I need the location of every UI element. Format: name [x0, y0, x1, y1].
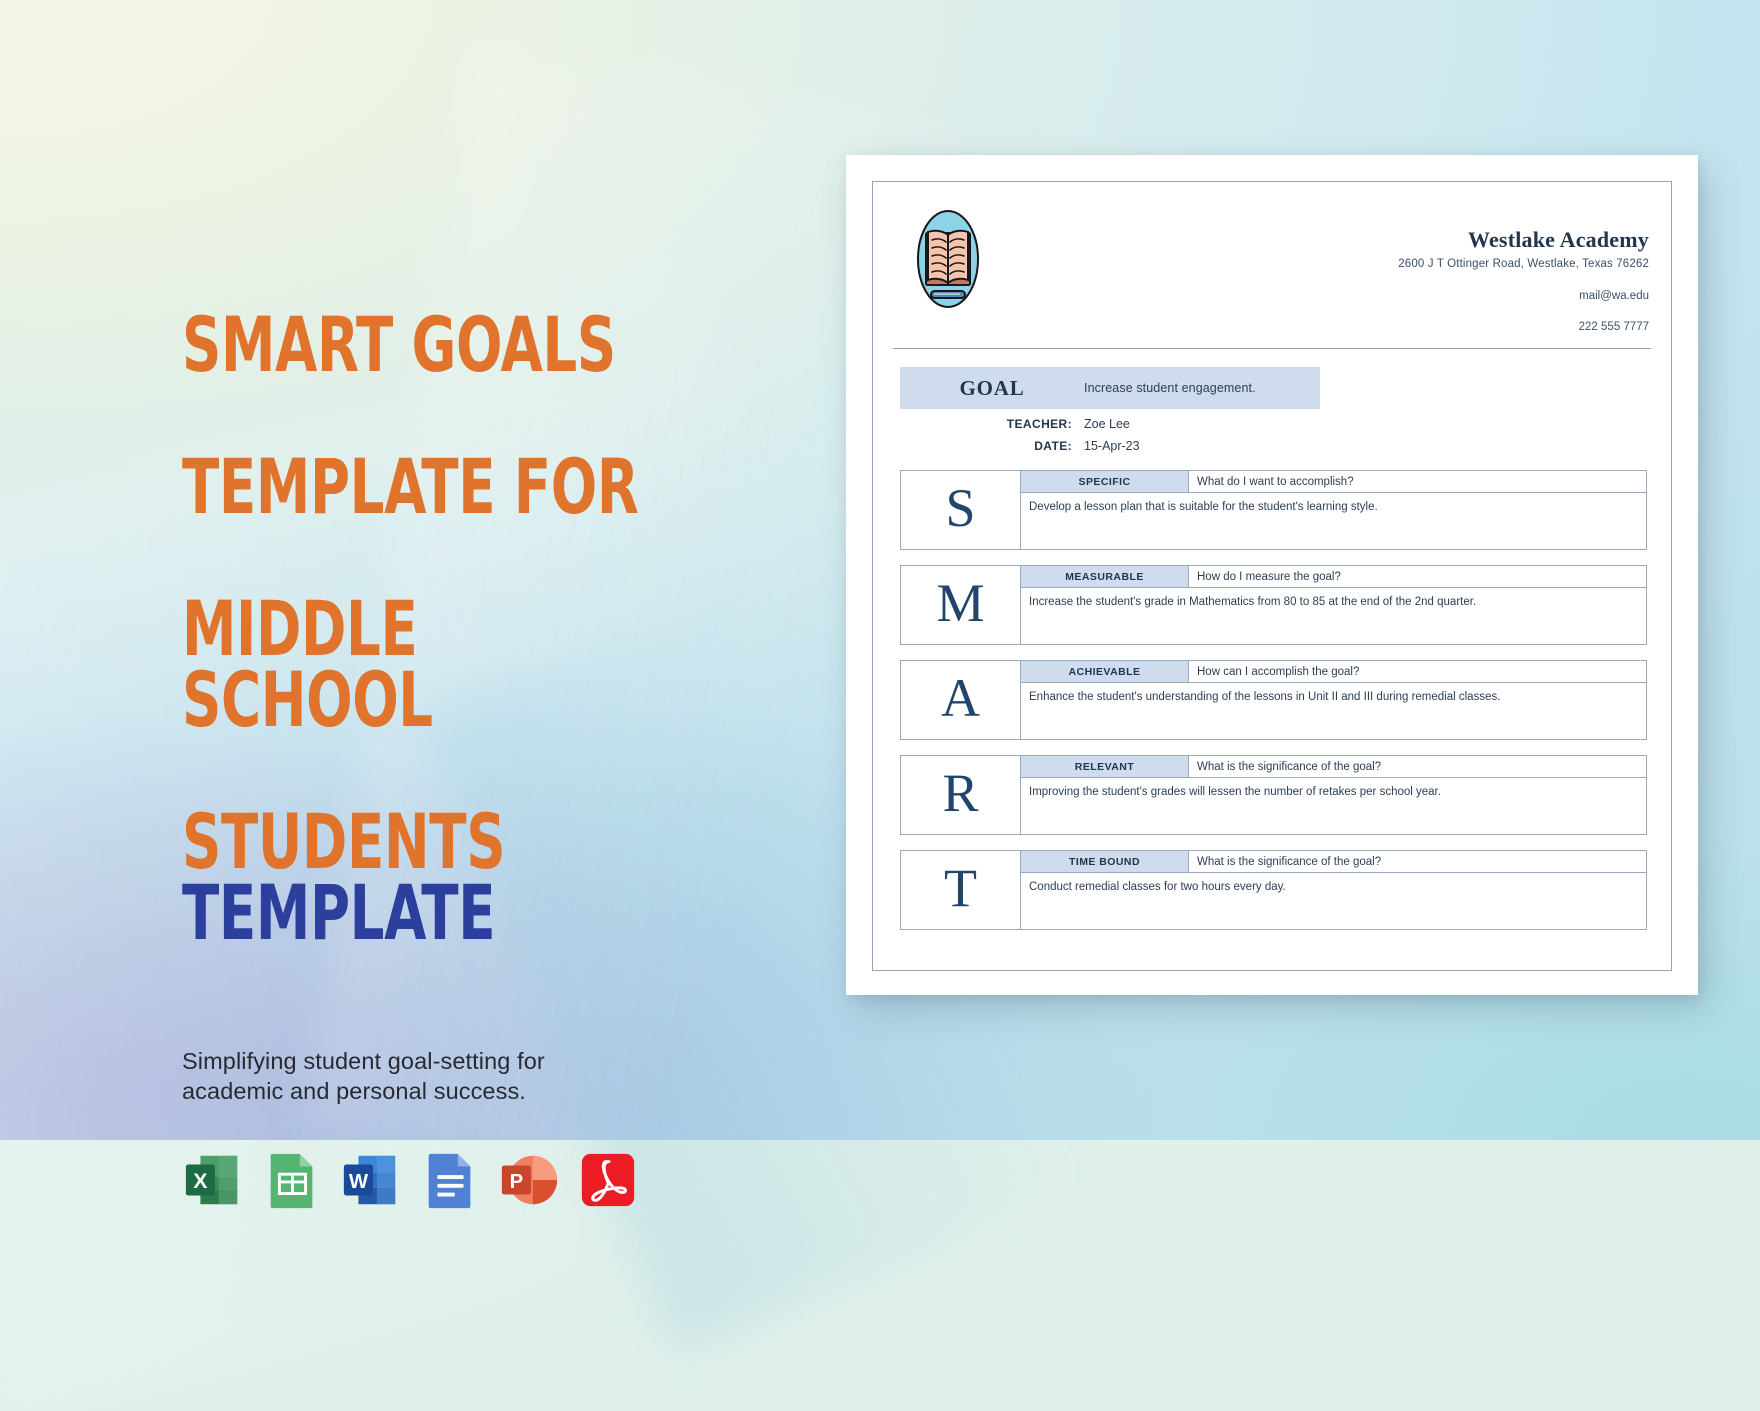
document-preview-card[interactable]: Westlake Academy 2600 J T Ottinger Road,… [846, 155, 1698, 995]
svg-text:P: P [510, 1170, 524, 1192]
document-letterhead: Westlake Academy 2600 J T Ottinger Road,… [893, 199, 1651, 349]
smart-head: SPECIFIC What do I want to accomplish? [1021, 471, 1646, 493]
promo-title-line-3: MIDDLE SCHOOL [182, 593, 678, 735]
smart-letter-m: M [901, 566, 1021, 644]
word-icon[interactable]: W [340, 1149, 402, 1211]
teacher-row: TEACHER: Zoe Lee [900, 417, 1651, 431]
criterion-label-achievable: ACHIEVABLE [1021, 661, 1189, 682]
promo-title-line-2: TEMPLATE FOR [182, 451, 678, 522]
school-phone: 222 555 7777 [1398, 321, 1649, 333]
google-docs-icon[interactable] [419, 1149, 481, 1211]
criterion-label-time-bound: TIME BOUND [1021, 851, 1189, 872]
criterion-question-specific: What do I want to accomplish? [1189, 471, 1646, 492]
goal-block: GOAL Increase student engagement. TEACHE… [893, 367, 1651, 453]
smart-head: TIME BOUND What is the significance of t… [1021, 851, 1646, 873]
smart-letter-s: S [901, 471, 1021, 549]
open-book-logo [915, 207, 981, 311]
criterion-label-relevant: RELEVANT [1021, 756, 1189, 777]
school-email: mail@wa.edu [1398, 290, 1649, 302]
goal-row: GOAL Increase student engagement. [900, 367, 1320, 409]
smart-head: RELEVANT What is the significance of the… [1021, 756, 1646, 778]
criterion-label-measurable: MEASURABLE [1021, 566, 1189, 587]
criterion-answer-relevant[interactable]: Improving the student's grades will less… [1021, 778, 1646, 834]
criterion-question-achievable: How can I accomplish the goal? [1189, 661, 1646, 682]
powerpoint-icon[interactable]: P [498, 1149, 560, 1211]
criterion-answer-time-bound[interactable]: Conduct remedial classes for two hours e… [1021, 873, 1646, 929]
date-row: DATE: 15-Apr-23 [900, 439, 1651, 453]
svg-text:X: X [193, 1168, 208, 1192]
promo-title: SMART GOALS TEMPLATE FOR MIDDLE SCHOOL S… [182, 238, 678, 1020]
promo-title-template-accent: TEMPLATE [182, 868, 495, 957]
smart-row-relevant: R RELEVANT What is the significance of t… [900, 755, 1647, 835]
smart-row-time-bound: T TIME BOUND What is the significance of… [900, 850, 1647, 930]
criterion-question-relevant: What is the significance of the goal? [1189, 756, 1646, 777]
criterion-answer-specific[interactable]: Develop a lesson plan that is suitable f… [1021, 493, 1646, 549]
smart-letter-t: T [901, 851, 1021, 929]
smart-row-achievable: A ACHIEVABLE How can I accomplish the go… [900, 660, 1647, 740]
smart-rows: S SPECIFIC What do I want to accomplish?… [893, 470, 1651, 930]
smart-head: ACHIEVABLE How can I accomplish the goal… [1021, 661, 1646, 683]
criterion-answer-achievable[interactable]: Enhance the student's understanding of t… [1021, 683, 1646, 739]
file-format-icon-row: X W [182, 1149, 802, 1211]
criterion-answer-measurable[interactable]: Increase the student's grade in Mathemat… [1021, 588, 1646, 644]
promo-panel: SMART GOALS TEMPLATE FOR MIDDLE SCHOOL S… [182, 238, 802, 1211]
smart-body: ACHIEVABLE How can I accomplish the goal… [1021, 661, 1646, 739]
date-value[interactable]: 15-Apr-23 [1084, 439, 1140, 453]
goal-label: GOAL [900, 376, 1084, 401]
school-address: 2600 J T Ottinger Road, Westlake, Texas … [1398, 258, 1649, 270]
smart-head: MEASURABLE How do I measure the goal? [1021, 566, 1646, 588]
teacher-value[interactable]: Zoe Lee [1084, 417, 1130, 431]
goal-value[interactable]: Increase student engagement. [1084, 381, 1256, 395]
promo-title-line-4: STUDENTS TEMPLATE [182, 806, 678, 948]
smart-letter-a: A [901, 661, 1021, 739]
promo-title-line-1: SMART GOALS [182, 309, 678, 380]
criterion-label-specific: SPECIFIC [1021, 471, 1189, 492]
document-page: Westlake Academy 2600 J T Ottinger Road,… [872, 181, 1672, 971]
smart-body: RELEVANT What is the significance of the… [1021, 756, 1646, 834]
criterion-question-time-bound: What is the significance of the goal? [1189, 851, 1646, 872]
smart-letter-r: R [901, 756, 1021, 834]
date-label: DATE: [900, 439, 1084, 453]
promo-subtitle: Simplifying student goal-setting for aca… [182, 1046, 687, 1107]
smart-body: MEASURABLE How do I measure the goal? In… [1021, 566, 1646, 644]
smart-row-measurable: M MEASURABLE How do I measure the goal? … [900, 565, 1647, 645]
google-sheets-icon[interactable] [261, 1149, 323, 1211]
teacher-label: TEACHER: [900, 417, 1084, 431]
school-name: Westlake Academy [1398, 227, 1649, 253]
pdf-icon[interactable] [577, 1149, 639, 1211]
criterion-question-measurable: How do I measure the goal? [1189, 566, 1646, 587]
svg-text:W: W [349, 1170, 369, 1192]
smart-row-specific: S SPECIFIC What do I want to accomplish?… [900, 470, 1647, 550]
smart-body: SPECIFIC What do I want to accomplish? D… [1021, 471, 1646, 549]
school-contact-block: Westlake Academy 2600 J T Ottinger Road,… [1398, 227, 1649, 333]
smart-body: TIME BOUND What is the significance of t… [1021, 851, 1646, 929]
excel-icon[interactable]: X [182, 1149, 244, 1211]
